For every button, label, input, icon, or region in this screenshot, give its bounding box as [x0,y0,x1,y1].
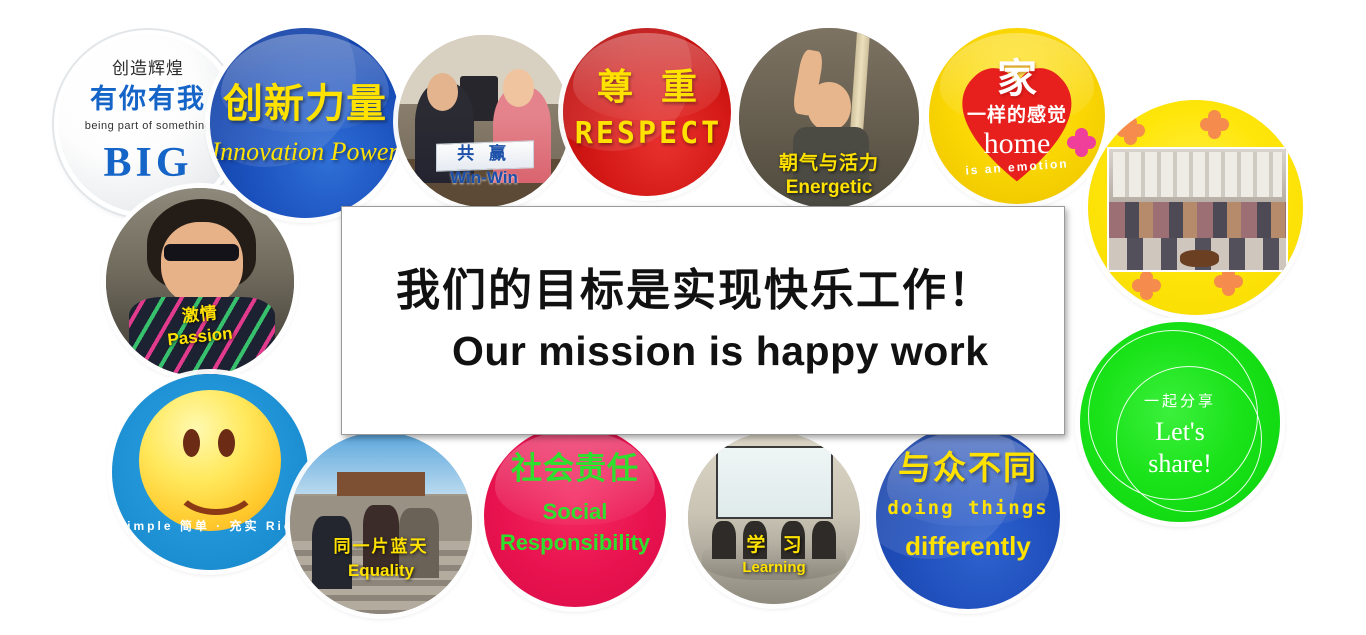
learning-line-cn: 学 习 [688,536,860,556]
share-line-en-1: Let's [1080,418,1280,445]
home-line-cn-2: 一样的感觉 [929,106,1105,126]
differently-line-cn: 与众不同 [876,451,1060,486]
respect-line-en: RESPECT [563,118,731,150]
mission-title-en: Our mission is happy work [342,326,1064,377]
win-win-line-cn: 共 赢 [398,145,570,163]
win-win-line-en: Win-Win [398,169,570,187]
smiley-face-icon [139,390,280,531]
respect-line-cn: 尊 重 [563,68,731,106]
equality-line-cn: 同一片蓝天 [290,538,472,556]
share-line-cn: 一起分享 [1080,394,1280,410]
social-line-en-2: Responsibility [484,531,666,554]
equality-line-en: Equality [290,562,472,580]
differently-line-en-2: differently [876,533,1060,560]
circle-learning[interactable]: 学 习 Learning [688,432,860,604]
learning-line-en: Learning [688,560,860,576]
circle-home-is-an-emotion[interactable]: 家 一样的感觉 home is an emotion [929,28,1105,204]
energetic-line-cn: 朝气与活力 [739,154,919,174]
social-line-cn: 社会责任 [484,453,666,486]
circle-doing-things-differently[interactable]: 与众不同 doing things differently [876,425,1060,609]
flower-icon [1132,271,1162,301]
share-line-en-2: share! [1080,450,1280,477]
circle-respect[interactable]: 尊 重 RESPECT [563,28,731,196]
culture-values-banner: 创造辉煌 有你有我 being part of something BIG 激情… [0,0,1366,635]
innovation-line-cn: 创新力量 [210,83,400,125]
mission-banner: 我们的目标是实现快乐工作！ Our mission is happy work [341,206,1065,435]
mission-title-cn: 我们的目标是实现快乐工作！ [342,263,1064,318]
flower-icon [1200,110,1230,140]
smiley-caption: Simple 简单 · 充实 Rich [112,517,308,534]
circle-team-photo[interactable] [1088,100,1303,315]
differently-line-en-1: doing things [876,499,1060,519]
circle-innovation-power[interactable]: 创新力量 Innovation Power [210,28,400,218]
circle-equality[interactable]: 同一片蓝天 Equality [290,432,472,614]
circle-passion[interactable]: 激情 Passion [106,188,294,376]
circle-simple-and-rich[interactable]: Simple 简单 · 充实 Rich [112,374,308,570]
energetic-line-en: Energetic [739,178,919,198]
team-photo-image [1107,147,1287,271]
circle-energetic[interactable]: 朝气与活力 Energetic [739,28,919,208]
big-line-1: 创造辉煌 [59,60,237,78]
circle-lets-share[interactable]: 一起分享 Let's share! [1080,322,1280,522]
home-line-cn-1: 家 [929,58,1105,100]
social-line-en-1: Social [484,500,666,523]
circle-win-win[interactable]: 共 赢 Win-Win [398,35,570,207]
learning-photo [688,432,860,604]
innovation-line-en: Innovation Power [210,138,400,165]
flower-icon [1116,116,1146,146]
equality-photo [290,432,472,614]
circle-social-responsibility[interactable]: 社会责任 Social Responsibility [484,425,666,607]
